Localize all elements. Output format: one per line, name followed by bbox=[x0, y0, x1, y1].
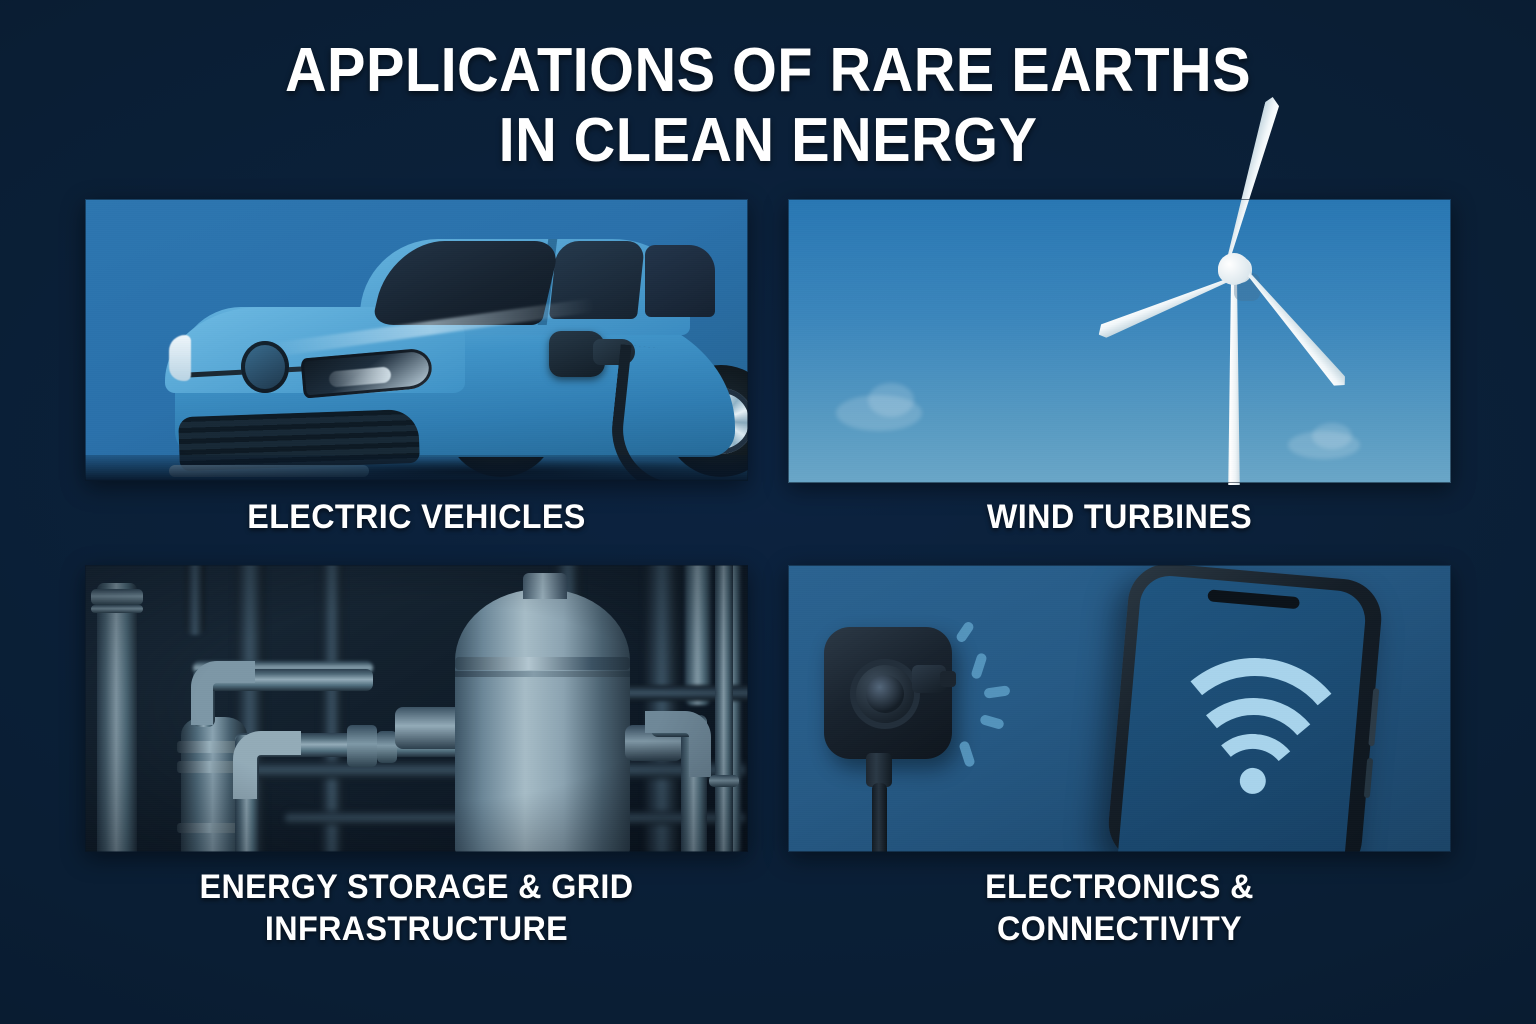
caption-electronics-connectivity: ELECTRONICS & CONNECTIVITY bbox=[805, 866, 1435, 950]
caption-line-2: INFRASTRUCTURE bbox=[265, 910, 568, 948]
title-line-1: APPLICATIONS OF RARE EARTHS bbox=[285, 36, 1251, 105]
caption-line-1: ENERGY STORAGE & GRID bbox=[200, 868, 634, 906]
turbine-blade-3 bbox=[1234, 259, 1349, 392]
phone-screen bbox=[1117, 574, 1367, 852]
electric-car-illustration bbox=[145, 215, 748, 481]
turbine-hub bbox=[1218, 253, 1250, 285]
turbine-mast bbox=[1225, 269, 1243, 485]
pipe-vertical-left bbox=[97, 583, 137, 852]
car-emblem-icon bbox=[241, 341, 289, 393]
wind-turbine-illustration bbox=[1084, 165, 1384, 485]
panel-electronics-connectivity[interactable] bbox=[788, 565, 1451, 852]
camera-cable bbox=[872, 783, 887, 852]
camera-lens-icon bbox=[866, 675, 904, 713]
caption-line-2: CONNECTIVITY bbox=[997, 910, 1242, 948]
panel-electric-vehicles[interactable] bbox=[85, 199, 748, 481]
panel-wind-turbines[interactable] bbox=[788, 199, 1451, 483]
caption-line-1: ELECTRONICS & bbox=[985, 868, 1254, 906]
infographic-canvas: APPLICATIONS OF RARE EARTHS IN CLEAN ENE… bbox=[0, 0, 1536, 1024]
smart-camera-icon bbox=[824, 627, 952, 759]
panel-energy-storage-grid[interactable] bbox=[85, 565, 748, 852]
phone-notch bbox=[1207, 589, 1300, 609]
caption-electric-vehicles: ELECTRIC VEHICLES bbox=[102, 496, 732, 538]
turbine-blade-2 bbox=[1095, 269, 1240, 340]
wifi-icon bbox=[1173, 651, 1344, 792]
storage-tank bbox=[455, 589, 630, 852]
tank-cap bbox=[523, 573, 567, 599]
caption-energy-storage-grid: ENERGY STORAGE & GRID INFRASTRUCTURE bbox=[102, 866, 732, 950]
smartphone-illustration bbox=[1105, 565, 1384, 852]
caption-wind-turbines: WIND TURBINES bbox=[805, 496, 1435, 538]
